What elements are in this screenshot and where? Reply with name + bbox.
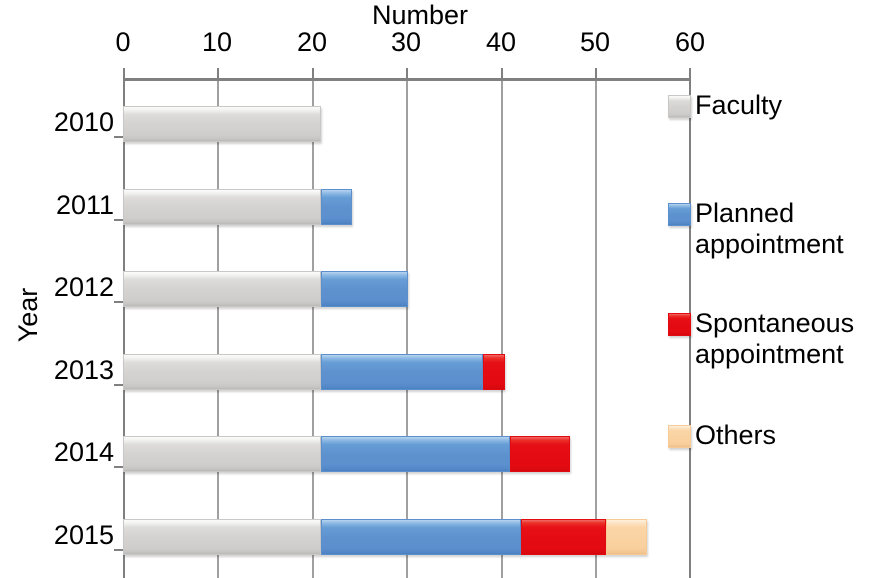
legend-label-faculty: Faculty — [695, 90, 869, 121]
legend-label-spontaneous: Spontaneous — [695, 308, 869, 339]
bar-segment-spontaneous[interactable] — [483, 354, 505, 390]
x-tick-mark-20 — [312, 68, 314, 78]
x-axis-title: Number — [280, 0, 560, 30]
x-axis-line — [123, 78, 691, 81]
x-tick-label-40: 40 — [471, 27, 531, 57]
y-tick-label-2014: 2014 — [28, 437, 114, 467]
bar-segment-faculty[interactable] — [123, 519, 321, 555]
bar-segment-spontaneous[interactable] — [521, 519, 606, 555]
legend-swatch-planned-icon — [668, 203, 691, 226]
bar-segment-others[interactable] — [606, 519, 647, 555]
x-tick-mark-30 — [406, 68, 408, 78]
bar-segment-planned[interactable] — [321, 354, 483, 390]
gridline-x-40 — [501, 78, 503, 578]
y-tick-mark-1 — [114, 136, 123, 138]
x-tick-label-60: 60 — [660, 27, 720, 57]
x-tick-mark-0 — [123, 68, 125, 78]
y-tick-label-2013: 2013 — [28, 355, 114, 385]
y-tick-mark-2 — [114, 219, 123, 221]
gridline-x-50 — [595, 78, 597, 578]
legend-label-planned-line2: appointment — [695, 229, 869, 260]
bar-segment-planned[interactable] — [321, 436, 510, 472]
x-tick-mark-40 — [501, 68, 503, 78]
y-tick-mark-3 — [114, 301, 123, 303]
bar-segment-faculty[interactable] — [123, 106, 321, 142]
x-tick-mark-50 — [595, 68, 597, 78]
legend-swatch-spontaneous-icon — [668, 313, 691, 336]
legend: Faculty Planned appointment Spontaneous … — [668, 80, 869, 500]
bar-segment-planned[interactable] — [321, 271, 408, 307]
bar-segment-planned[interactable] — [321, 189, 352, 225]
legend-swatch-others-icon — [668, 425, 691, 448]
bar-segment-faculty[interactable] — [123, 189, 321, 225]
y-tick-label-2015: 2015 — [28, 520, 114, 550]
y-tick-mark-4 — [114, 384, 123, 386]
y-tick-label-2012: 2012 — [28, 272, 114, 302]
legend-swatch-faculty-icon — [668, 95, 691, 118]
gridline-x-30 — [406, 78, 408, 578]
x-tick-label-50: 50 — [565, 27, 625, 57]
bar-segment-faculty[interactable] — [123, 271, 321, 307]
legend-label-others: Others — [695, 420, 869, 451]
y-axis-line — [123, 78, 125, 578]
bar-segment-faculty[interactable] — [123, 354, 321, 390]
x-tick-mark-10 — [217, 68, 219, 78]
x-tick-label-10: 10 — [187, 27, 247, 57]
y-tick-mark-5 — [114, 466, 123, 468]
x-tick-label-30: 30 — [376, 27, 436, 57]
legend-label-planned: Planned — [695, 198, 869, 229]
x-tick-label-0: 0 — [93, 27, 153, 57]
legend-label-spontaneous-line2: appointment — [695, 339, 869, 370]
chart-canvas: Number Year 0 10 20 30 40 50 60 2010 201… — [0, 0, 869, 578]
x-tick-mark-60 — [689, 68, 691, 78]
bar-segment-spontaneous[interactable] — [510, 436, 570, 472]
y-tick-mark-6 — [114, 549, 123, 551]
y-tick-label-2010: 2010 — [28, 107, 114, 137]
bar-segment-planned[interactable] — [321, 519, 521, 555]
y-tick-label-2011: 2011 — [28, 190, 114, 220]
gridline-x-20 — [312, 78, 314, 578]
x-tick-label-20: 20 — [282, 27, 342, 57]
bar-segment-faculty[interactable] — [123, 436, 321, 472]
gridline-x-10 — [217, 78, 219, 578]
plot-area — [123, 78, 690, 578]
